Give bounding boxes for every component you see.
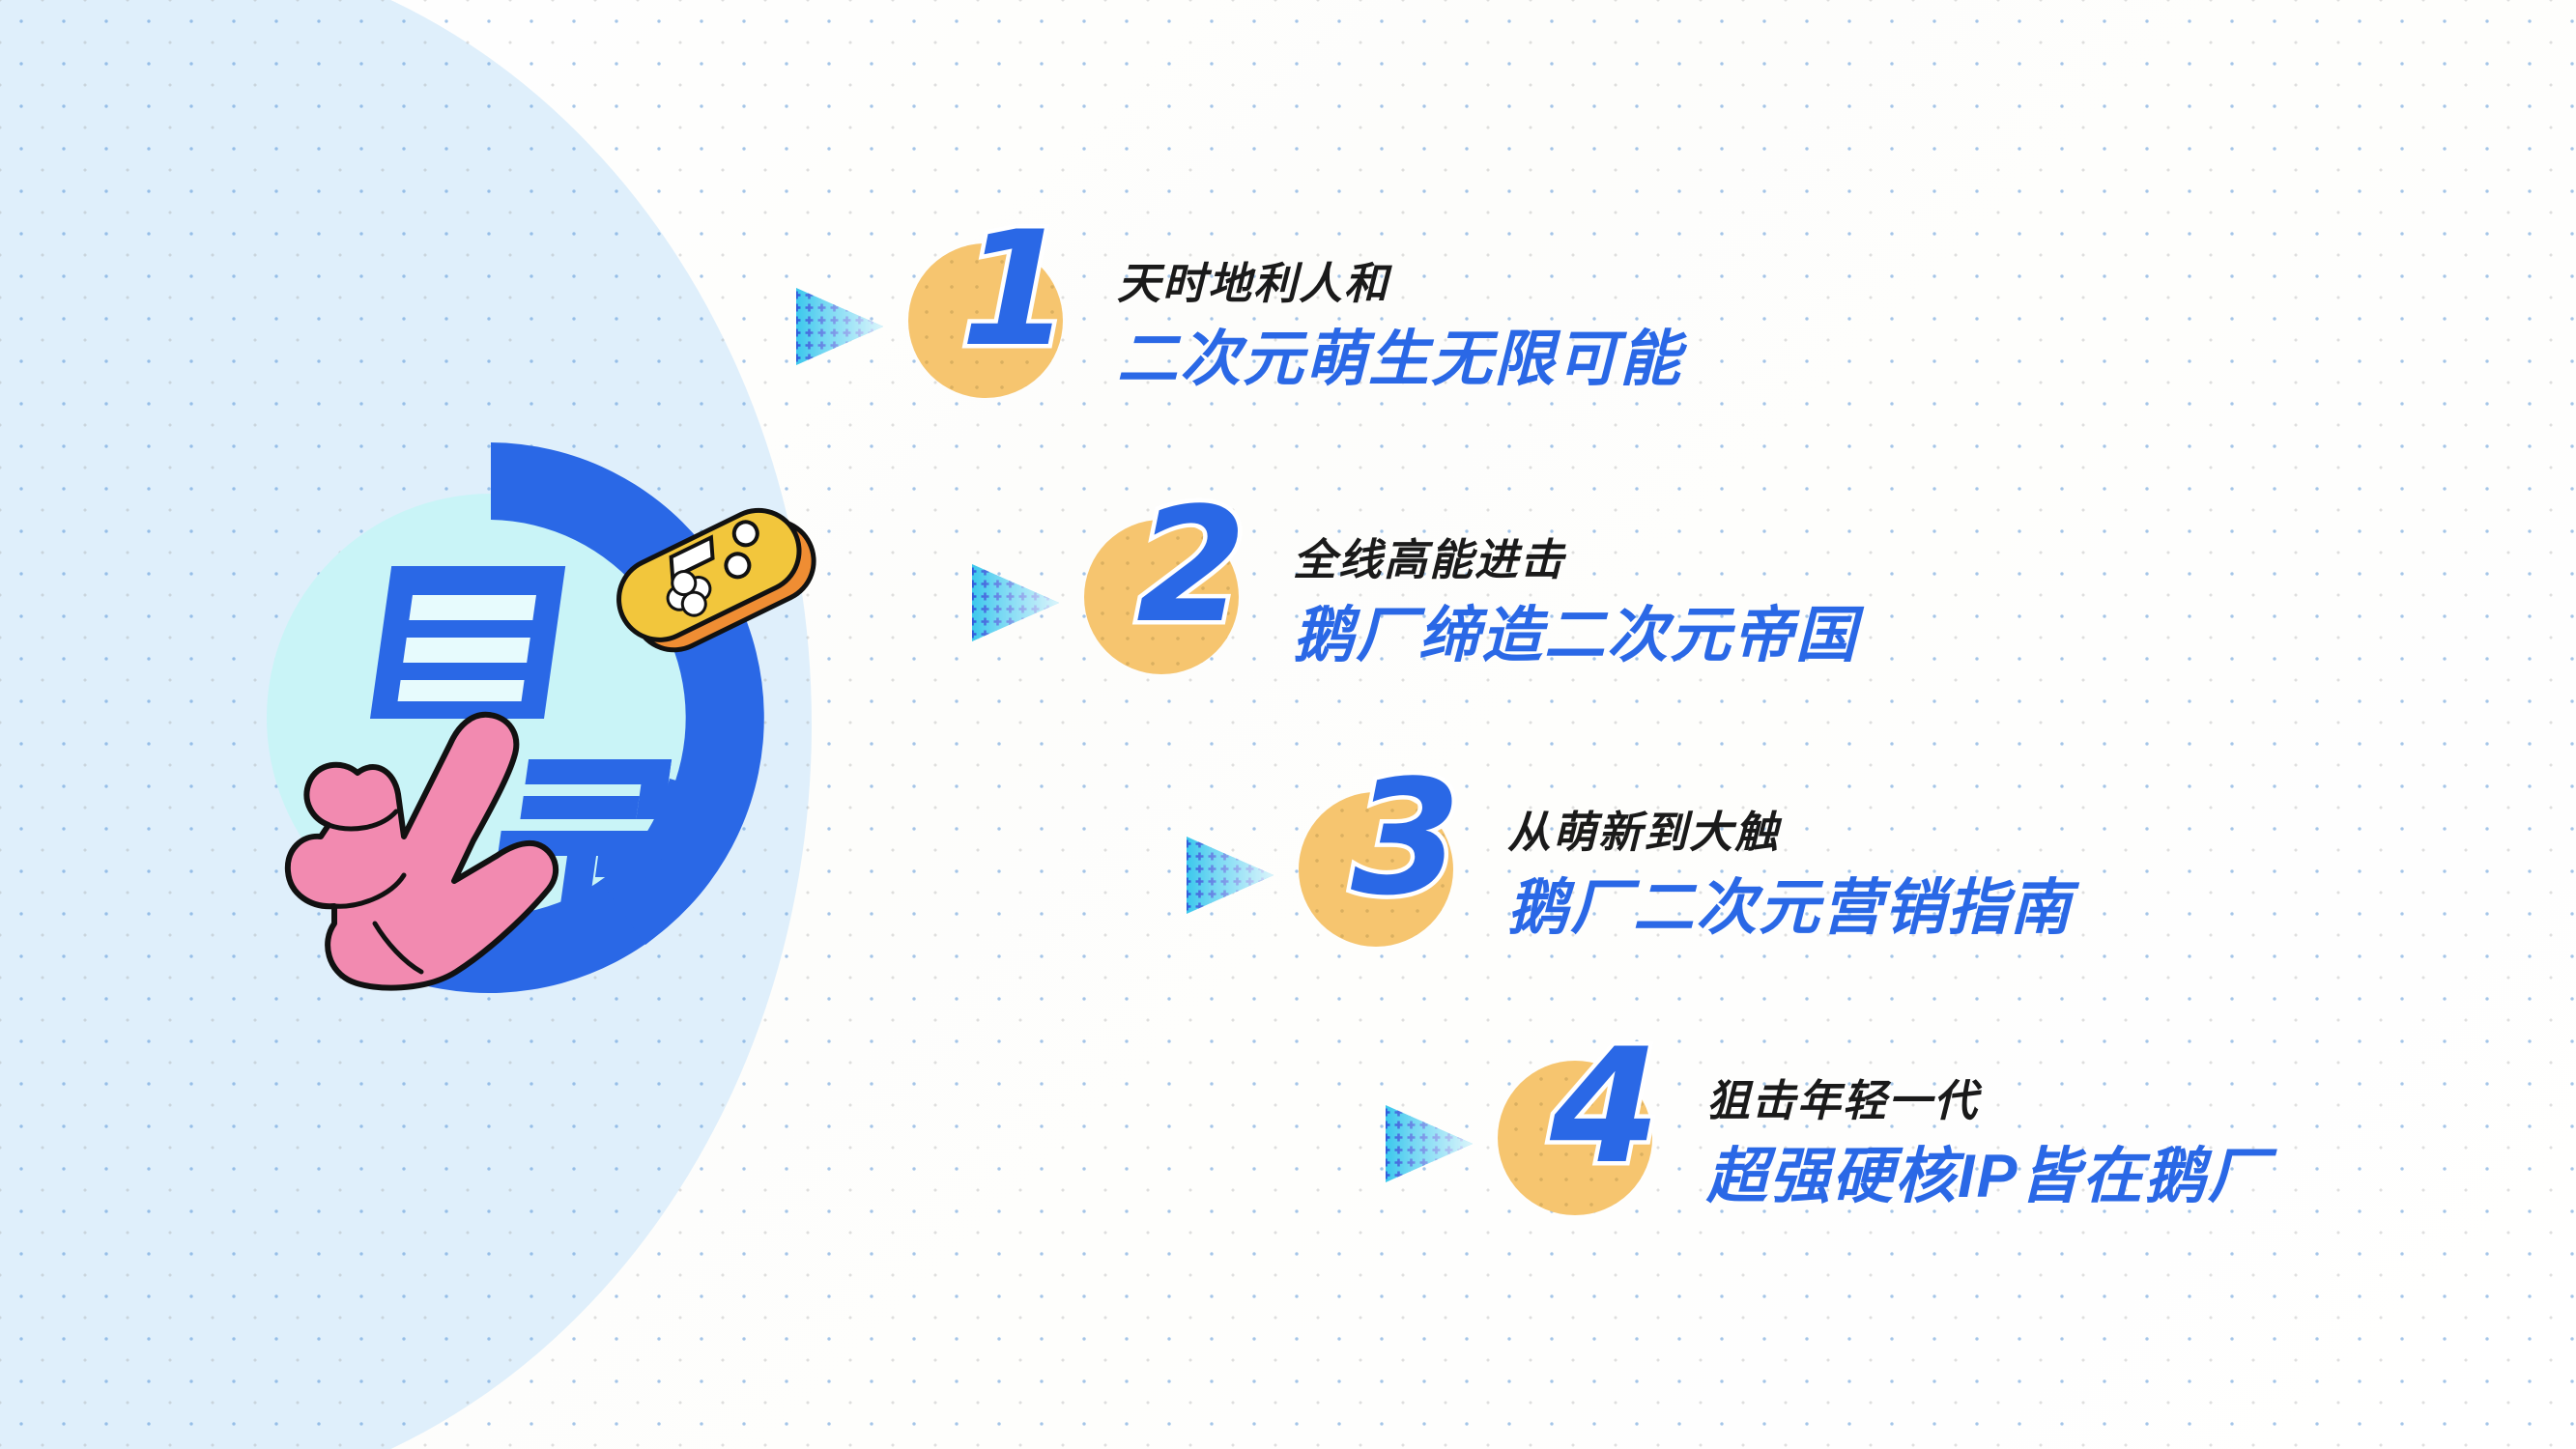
agenda-item-2[interactable]: 2 全线高能进击 鹅厂缔造二次元帝国 (966, 520, 1858, 686)
agenda-number-badge: 2 (1084, 520, 1250, 686)
play-triangle-icon (966, 553, 1071, 653)
play-triangle-icon (1380, 1094, 1484, 1194)
agenda-number-badge: 1 (908, 243, 1074, 410)
agenda-headline-3: 鹅厂二次元营销指南 (1507, 875, 2073, 942)
agenda-kicker-2: 全线高能进击 (1293, 536, 1858, 584)
agenda-headline-4: 超强硬核IP皆在鹅厂 (1706, 1144, 2271, 1210)
agenda-text-block-2: 全线高能进击 鹅厂缔造二次元帝国 (1293, 536, 1858, 670)
agenda-item-4[interactable]: 4 狙击年轻一代 超强硬核IP皆在鹅厂 (1380, 1061, 2271, 1227)
agenda-list: 1 天时地利人和 二次元萌生无限可能 (0, 0, 2576, 1449)
agenda-kicker-4: 狙击年轻一代 (1706, 1077, 2271, 1125)
agenda-item-3[interactable]: 3 从萌新到大触 鹅厂二次元营销指南 (1181, 792, 2073, 958)
agenda-number-1: 1 (960, 211, 1069, 369)
play-triangle-icon (1181, 825, 1285, 925)
agenda-kicker-1: 天时地利人和 (1117, 260, 1682, 308)
agenda-text-block-4: 狙击年轻一代 超强硬核IP皆在鹅厂 (1706, 1077, 2271, 1211)
agenda-number-2: 2 (1136, 487, 1245, 645)
agenda-headline-1: 二次元萌生无限可能 (1117, 327, 1682, 393)
agenda-number-badge: 4 (1498, 1061, 1664, 1227)
play-triangle-icon (790, 276, 895, 377)
presentation-slide: 1 天时地利人和 二次元萌生无限可能 (0, 0, 2576, 1449)
agenda-item-1[interactable]: 1 天时地利人和 二次元萌生无限可能 (790, 243, 1682, 410)
agenda-headline-2: 鹅厂缔造二次元帝国 (1293, 603, 1858, 669)
agenda-text-block-1: 天时地利人和 二次元萌生无限可能 (1117, 260, 1682, 394)
agenda-number-3: 3 (1351, 759, 1459, 918)
agenda-number-badge: 3 (1299, 792, 1465, 958)
agenda-number-4: 4 (1550, 1028, 1658, 1186)
agenda-kicker-3: 从萌新到大触 (1507, 809, 2073, 857)
agenda-text-block-3: 从萌新到大触 鹅厂二次元营销指南 (1507, 809, 2073, 943)
